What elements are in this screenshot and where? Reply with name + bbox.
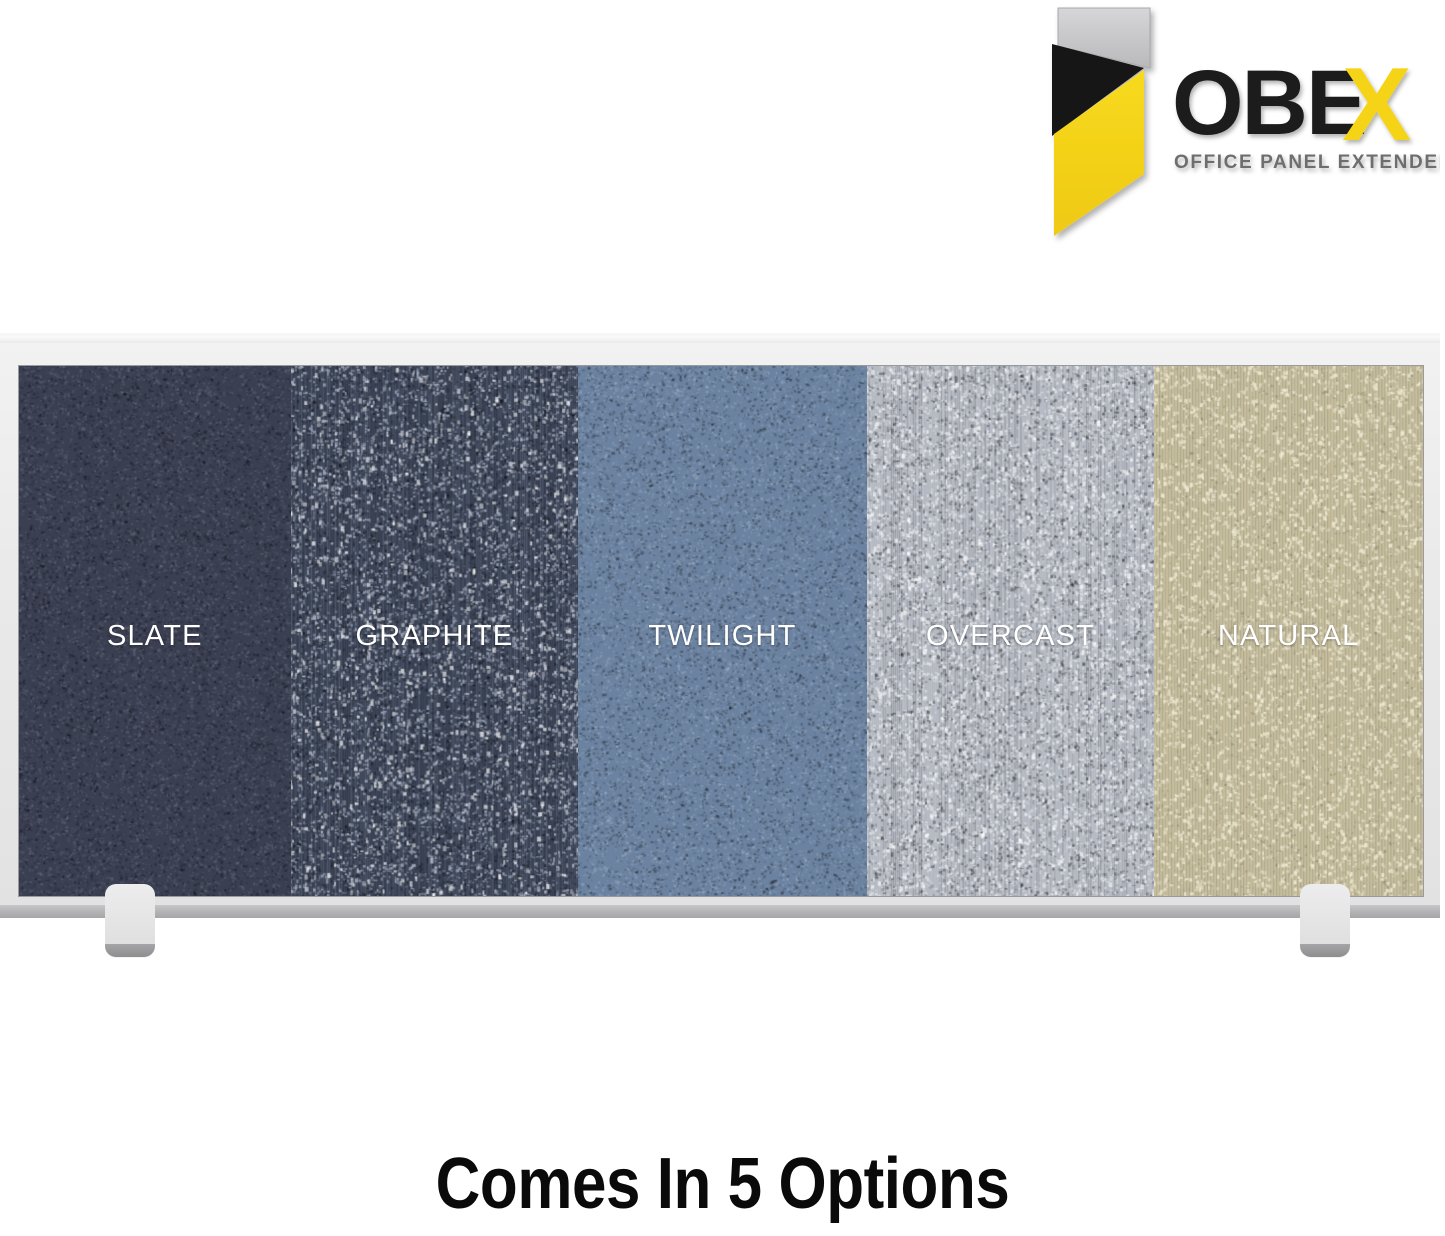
swatch-overcast[interactable]: OVERCAST — [867, 366, 1155, 896]
fabric-swatch-strip: SLATE GRAPHITE TWILIGHT OVERCAST NATURAL — [18, 365, 1424, 897]
logo-text-obe: OBE — [1172, 56, 1365, 154]
caption-comes-in-5-options: Comes In 5 Options — [101, 1148, 1344, 1220]
panel-foot-right — [1300, 884, 1350, 957]
swatch-natural[interactable]: NATURAL — [1154, 366, 1423, 896]
frame-top-highlight — [0, 336, 1440, 343]
swatch-graphite[interactable]: GRAPHITE — [291, 366, 579, 896]
swatch-slate[interactable]: SLATE — [19, 366, 291, 896]
obex-chevron-logo-mark-icon — [1032, 6, 1182, 246]
swatch-label-twilight: TWILIGHT — [578, 620, 867, 653]
swatch-label-slate: SLATE — [19, 620, 291, 653]
privacy-panel-product: SLATE GRAPHITE TWILIGHT OVERCAST NATURAL — [0, 333, 1440, 918]
obex-logo: OBE X OFFICE PANEL EXTENDERS — [1032, 6, 1432, 246]
logo-text-x: X — [1342, 56, 1411, 163]
obex-wordmark: OBE X OFFICE PANEL EXTENDERS — [1172, 56, 1440, 196]
logo-tagline: OFFICE PANEL EXTENDERS — [1174, 152, 1440, 173]
panel-bottom-rail — [0, 905, 1440, 918]
swatch-label-graphite: GRAPHITE — [291, 620, 579, 653]
swatch-twilight[interactable]: TWILIGHT — [578, 366, 867, 896]
panel-foot-left — [105, 884, 155, 957]
swatch-label-natural: NATURAL — [1154, 620, 1423, 653]
swatch-label-overcast: OVERCAST — [867, 620, 1155, 653]
